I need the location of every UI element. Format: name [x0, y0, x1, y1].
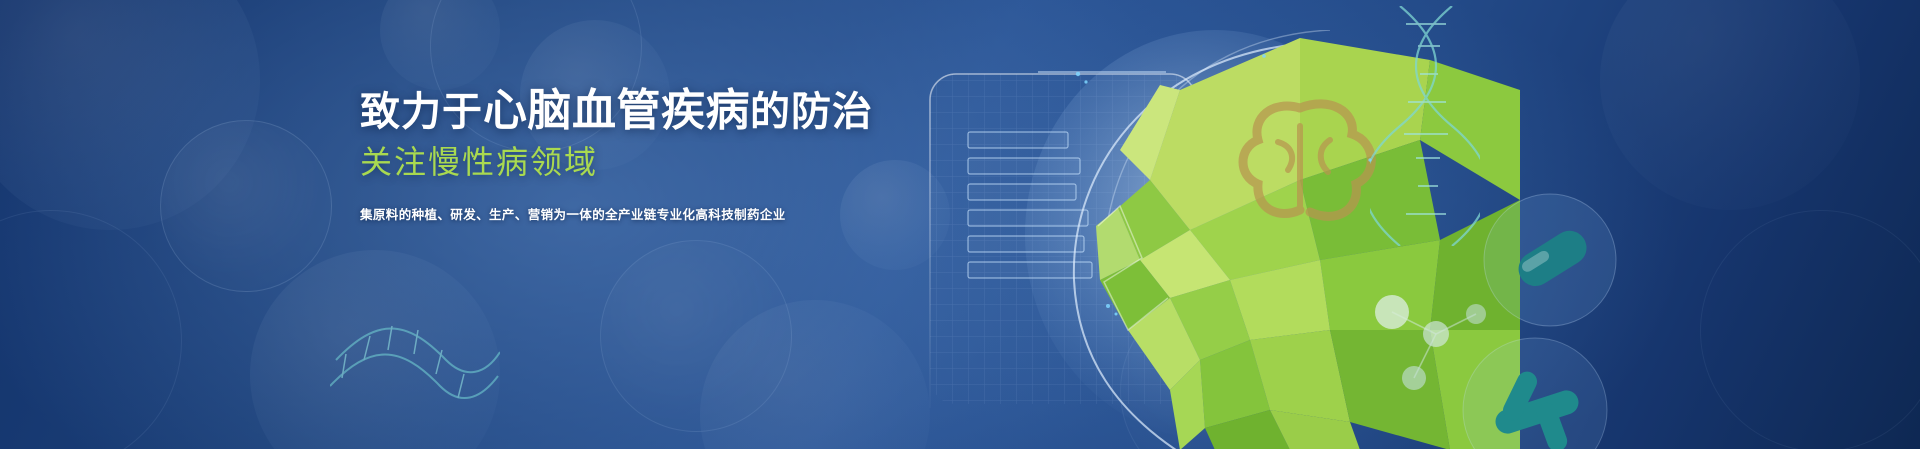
bokeh-circle [1190, 180, 1310, 300]
headline-emphasis: 心脑血管疾病 [483, 86, 750, 135]
banner-subheadline: 关注慢性病领域 [360, 144, 880, 182]
bokeh-circle [1700, 210, 1920, 449]
bokeh-circle [250, 250, 500, 449]
low-poly-head [1000, 30, 1520, 449]
bokeh-circle [0, 0, 260, 230]
bokeh-circle [700, 300, 930, 449]
molecule-icon [1340, 270, 1490, 400]
dna-helix-icon [1370, 6, 1480, 246]
headline-lead: 致力于 [360, 90, 483, 134]
headline-trail: 的防治 [750, 90, 873, 134]
microbe-cell-icon [1470, 185, 1630, 335]
bokeh-circle [160, 120, 332, 292]
banner-tagline: 集原料的种植、研发、生产、营销为一体的全产业链专业化高科技制药企业 [360, 206, 880, 225]
dna-helix-icon [330, 300, 500, 410]
brain-icon [1243, 104, 1371, 216]
bokeh-circle [1600, 0, 1860, 210]
banner-copy: 致力于心脑血管疾病的防治 关注慢性病领域 集原料的种植、研发、生产、营销为一体的… [360, 86, 880, 225]
microbe-cell-icon [1450, 330, 1620, 449]
head-facets [1096, 38, 1520, 449]
bokeh-circle [1120, 290, 1322, 449]
illustration-layer [0, 0, 1920, 449]
bokeh-circle [600, 240, 792, 432]
hud-bar-rows [968, 132, 1092, 278]
bokeh-circle [0, 210, 182, 449]
face-profile-notch [1096, 208, 1140, 280]
hud-grid-panel [920, 48, 1240, 408]
banner-headline: 致力于心脑血管疾病的防治 [360, 86, 880, 135]
hero-banner: 致力于心脑血管疾病的防治 关注慢性病领域 集原料的种植、研发、生产、营销为一体的… [0, 0, 1920, 449]
bokeh-circle [380, 0, 500, 90]
sparkle-dots [1050, 40, 1430, 340]
